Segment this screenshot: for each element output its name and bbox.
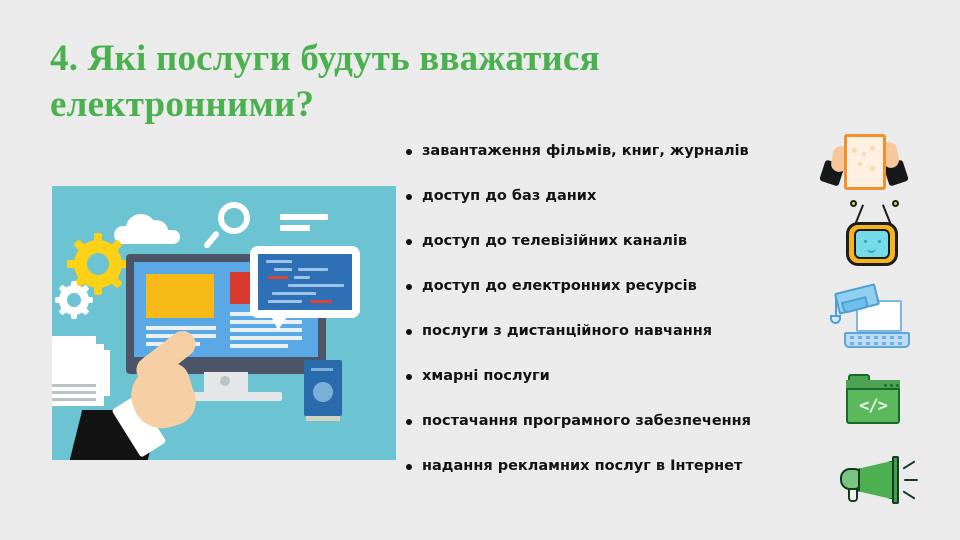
passport-book-icon xyxy=(304,360,342,422)
gear-icon-small xyxy=(54,280,94,320)
hands-holding-tablet-icon xyxy=(818,128,928,200)
code-folder-glyph: </> xyxy=(846,388,900,424)
bullet-dot xyxy=(406,239,412,245)
service-icon-column: </> xyxy=(818,128,938,508)
list-item-label: завантаження фільмів, книг, журналів xyxy=(422,142,749,161)
megaphone-icon xyxy=(818,438,928,508)
bullet-dot xyxy=(406,329,412,335)
slide-canvas: 4. Які послуги будуть вважатися електрон… xyxy=(0,0,960,540)
list-item-label: хмарні послуги xyxy=(422,367,550,386)
list-item: послуги з дистанційного навчання xyxy=(406,322,811,367)
e-services-illustration xyxy=(52,186,396,460)
bullet-dot xyxy=(406,194,412,200)
list-item: постачання програмного забезпечення xyxy=(406,412,811,457)
list-item: доступ до баз даних xyxy=(406,187,811,232)
bullet-dot xyxy=(406,149,412,155)
list-item: доступ до електронних ресурсів xyxy=(406,277,811,322)
list-item-label: доступ до електронних ресурсів xyxy=(422,277,697,296)
bullet-dot xyxy=(406,374,412,380)
services-bullet-list: завантаження фільмів, книг, журналів дос… xyxy=(406,142,811,502)
list-item-label: доступ до телевізійних каналів xyxy=(422,232,687,251)
chat-bubble-code xyxy=(250,246,360,336)
list-item-label: постачання програмного забезпечення xyxy=(422,412,751,431)
list-item: завантаження фільмів, книг, журналів xyxy=(406,142,811,187)
list-item-label: послуги з дистанційного навчання xyxy=(422,322,712,341)
list-item-label: надання рекламних послуг в Інтернет xyxy=(422,457,742,476)
bullet-dot xyxy=(406,464,412,470)
retro-tv-icon xyxy=(818,200,928,282)
list-item: доступ до телевізійних каналів xyxy=(406,232,811,277)
code-folder-icon: </> xyxy=(818,362,928,438)
list-item: хмарні послуги xyxy=(406,367,811,412)
list-item: надання рекламних послуг в Інтернет xyxy=(406,457,811,502)
list-item-label: доступ до баз даних xyxy=(422,187,596,206)
bullet-dot xyxy=(406,419,412,425)
bullet-dot xyxy=(406,284,412,290)
page-title: 4. Які послуги будуть вважатися електрон… xyxy=(50,36,810,128)
pointing-hand xyxy=(76,338,206,460)
laptop-graduation-cap-icon xyxy=(818,282,928,362)
text-bars-icon xyxy=(280,214,328,236)
